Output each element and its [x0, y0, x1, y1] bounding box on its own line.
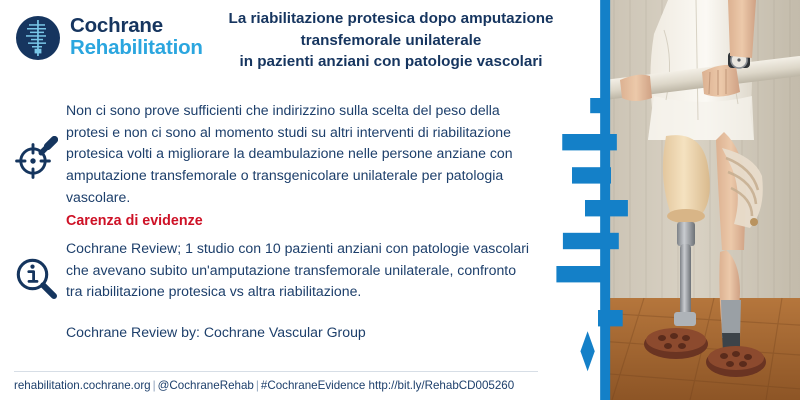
logo-name-cochrane: Cochrane	[70, 15, 203, 37]
footer-hashtag[interactable]: #CochraneEvidence	[261, 379, 365, 392]
footer-website[interactable]: rehabilitation.cochrane.org	[14, 379, 151, 392]
evidence-gap-text: Non ci sono prove sufficienti che indiri…	[66, 100, 534, 232]
footer-divider	[14, 371, 538, 372]
footer-separator-2: |	[254, 379, 261, 392]
magnifier-info-icon	[14, 256, 58, 300]
review-info-text: Cochrane Review; 1 studio con 10 pazient…	[66, 238, 534, 344]
prosthesis-rehabilitation-photo	[604, 0, 800, 400]
title-line-2: transfemorale unilaterale	[196, 30, 586, 52]
review-group-credit: Cochrane Review by: Cochrane Vascular Gr…	[66, 322, 534, 344]
cochrane-rehabilitation-logo[interactable]: Cochrane Rehabilitation	[14, 12, 204, 64]
review-info-body: Cochrane Review; 1 studio con 10 pazient…	[66, 240, 529, 299]
title-line-3: in pazienti anziani con patologie vascol…	[196, 51, 586, 73]
page-title: La riabilitazione protesica dopo amputaz…	[196, 8, 586, 73]
photo-illustration	[604, 0, 800, 400]
logo-name-rehabilitation: Rehabilitation	[70, 37, 203, 59]
evidence-card: Cochrane Rehabilitation La riabilitazion…	[0, 0, 800, 400]
evidence-gap-target-icon	[14, 136, 58, 180]
logo-wordmark: Cochrane Rehabilitation	[70, 15, 203, 59]
footer-short-link[interactable]: http://bit.ly/RehabCD005260	[369, 379, 515, 392]
evidence-gap-badge: Carenza di evidenze	[66, 210, 534, 232]
footer-links: rehabilitation.cochrane.org|@CochraneReh…	[14, 379, 514, 392]
title-line-1: La riabilitazione protesica dopo amputaz…	[196, 8, 586, 30]
evidence-gap-body: Non ci sono prove sufficienti che indiri…	[66, 102, 513, 205]
content-column: Cochrane Rehabilitation La riabilitazion…	[0, 0, 604, 400]
footer-twitter-handle[interactable]: @CochraneRehab	[158, 379, 254, 392]
cochrane-forest-plot-logo-icon	[14, 14, 62, 62]
footer-separator-1: |	[151, 379, 158, 392]
